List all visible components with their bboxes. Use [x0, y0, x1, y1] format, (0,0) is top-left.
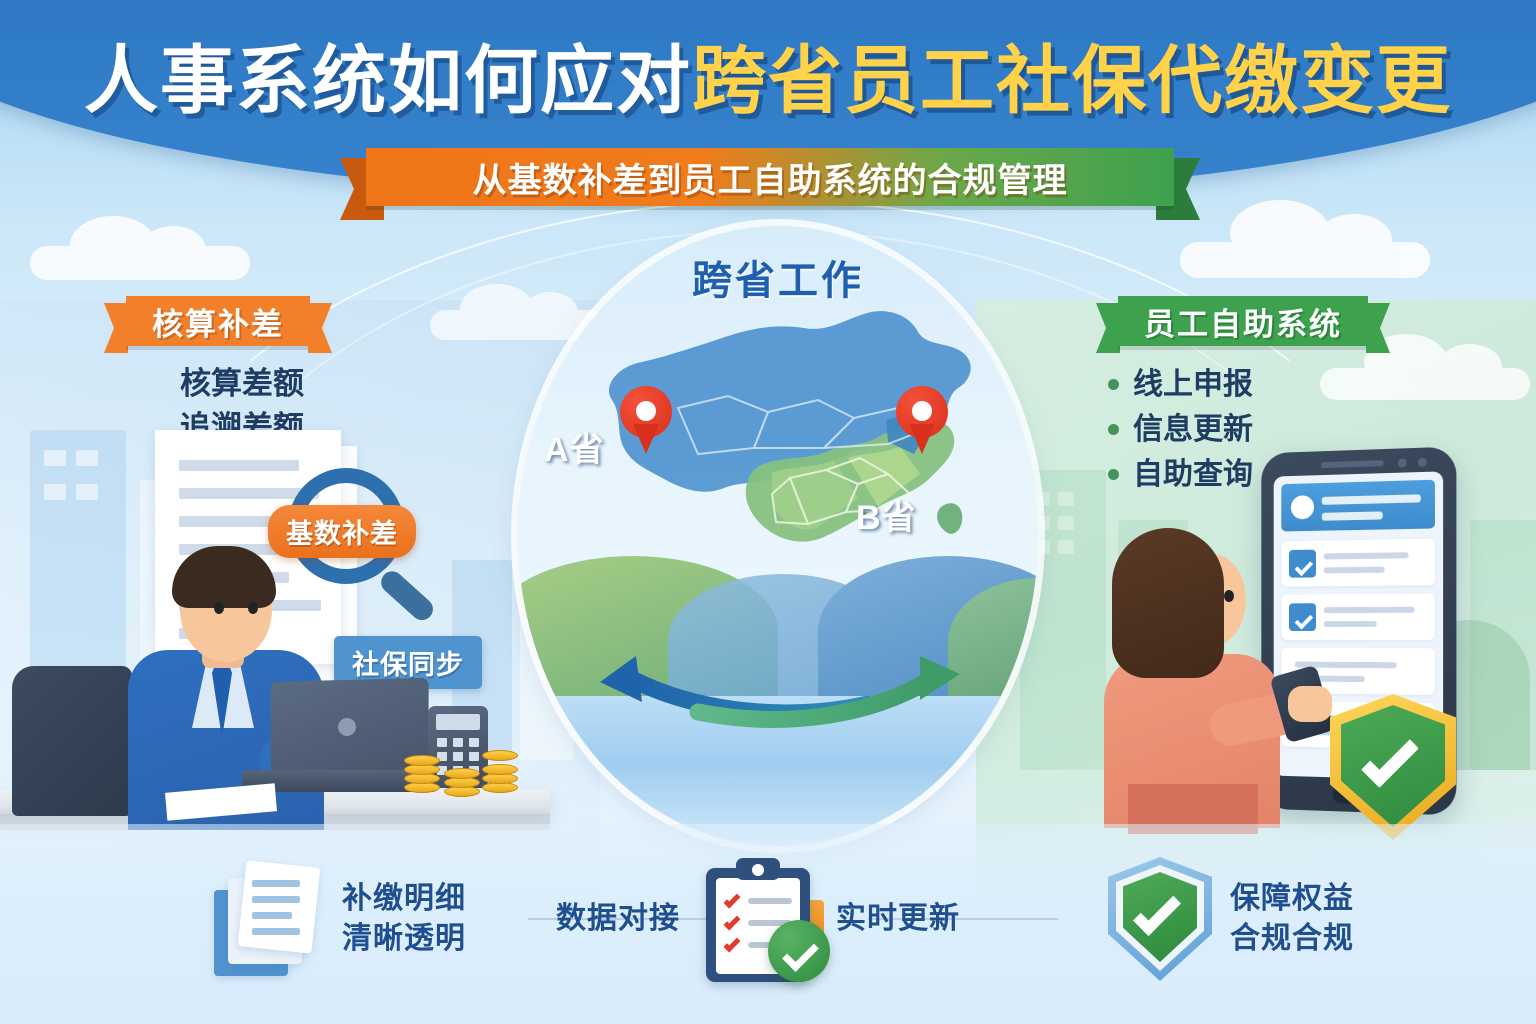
list-item[interactable]: [1281, 593, 1435, 640]
bullet-label-3: 自助查询: [1133, 452, 1253, 497]
bottom-item-4-text: 保障权益 合规合规: [1230, 879, 1354, 960]
app-header: [1281, 480, 1435, 532]
check-badge-icon: [768, 920, 830, 982]
bullet-item-1: 线上申报: [1108, 362, 1253, 407]
cloud-left: [30, 210, 250, 280]
bottom-item-2-text: 数据对接: [556, 899, 680, 940]
page-title-accent: 跨省员工社保代缴变更: [692, 39, 1452, 122]
right-section-banner: 员工自助系统: [1118, 296, 1368, 346]
bottom-item-documents: 补缴明细 清晰透明: [214, 844, 466, 994]
left-line-1: 核算差额: [180, 362, 304, 406]
bottom-item-3-line1: 实时更新: [836, 899, 960, 940]
left-section-banner: 核算补差: [126, 296, 310, 346]
page-title-white: 人事系统如何应对: [84, 39, 692, 122]
coin-stacks: [404, 742, 524, 796]
subtitle-text: 从基数补差到员工自助系统的合规管理: [473, 153, 1068, 202]
avatar: [1291, 495, 1314, 519]
phone-camera-icon: [1398, 458, 1407, 467]
clipboard-check-icon: [706, 856, 818, 982]
bullet-label-2: 信息更新: [1133, 407, 1253, 452]
list-item[interactable]: [1281, 539, 1435, 587]
shield-check-badge: [1330, 694, 1456, 840]
left-banner-label: 核算补差: [152, 299, 284, 344]
cloud-right: [1180, 198, 1430, 278]
center-map-circle: A省 B省: [518, 226, 1038, 846]
shield-check-icon: [1108, 857, 1212, 981]
documents-icon: [214, 864, 324, 974]
bottom-item-1-line1: 补缴明细: [342, 879, 466, 920]
infographic-canvas: 人事系统如何应对跨省员工社保代缴变更 从基数补差到员工自助系统的合规管理 核算补…: [0, 0, 1536, 1024]
bottom-item-compliance: 保障权益 合规合规: [1108, 844, 1354, 994]
bullet-item-3: 自助查询: [1108, 452, 1253, 497]
arrow-to-province-b: [688, 624, 1018, 734]
laptop-logo: [338, 718, 356, 736]
phone-sensor-icon: [1418, 458, 1427, 467]
bottom-item-4-line1: 保障权益: [1230, 879, 1354, 920]
bullet-item-2: 信息更新: [1108, 407, 1253, 452]
right-banner-label: 员工自助系统: [1144, 299, 1342, 344]
bullet-dot-icon: [1108, 469, 1119, 480]
bottom-item-1-text: 补缴明细 清晰透明: [342, 879, 466, 960]
bottom-item-realtime: 实时更新: [706, 844, 960, 994]
bottom-item-data-link: 数据对接: [556, 844, 680, 994]
phone-speaker: [1321, 460, 1384, 468]
map-pin-province-b[interactable]: [896, 386, 948, 454]
social-insurance-tag-label: 社保同步: [352, 650, 464, 680]
subtitle-ribbon: 从基数补差到员工自助系统的合规管理: [340, 148, 1200, 210]
bullet-dot-icon: [1108, 424, 1119, 435]
bottom-item-4-line2: 合规合规: [1230, 919, 1354, 960]
right-banner-body: 员工自助系统: [1118, 296, 1368, 346]
bottom-item-2-line1: 数据对接: [556, 899, 680, 940]
map-pin-province-a[interactable]: [620, 386, 672, 454]
bottom-item-1-line2: 清晰透明: [342, 919, 466, 960]
center-title: 跨省工作: [518, 248, 1038, 306]
bullet-label-1: 线上申报: [1133, 362, 1253, 407]
page-title: 人事系统如何应对跨省员工社保代缴变更: [0, 44, 1536, 118]
map-pin-b-label: B省: [856, 490, 917, 539]
left-banner-body: 核算补差: [126, 296, 310, 346]
map-pin-a-label: A省: [544, 422, 605, 471]
employee-illustration: [1090, 528, 1300, 828]
ribbon-body: 从基数补差到员工自助系统的合规管理: [366, 148, 1174, 206]
right-panel-bullets: 线上申报 信息更新 自助查询: [1108, 362, 1253, 497]
bottom-item-3-text: 实时更新: [836, 899, 960, 940]
bullet-dot-icon: [1108, 379, 1119, 390]
